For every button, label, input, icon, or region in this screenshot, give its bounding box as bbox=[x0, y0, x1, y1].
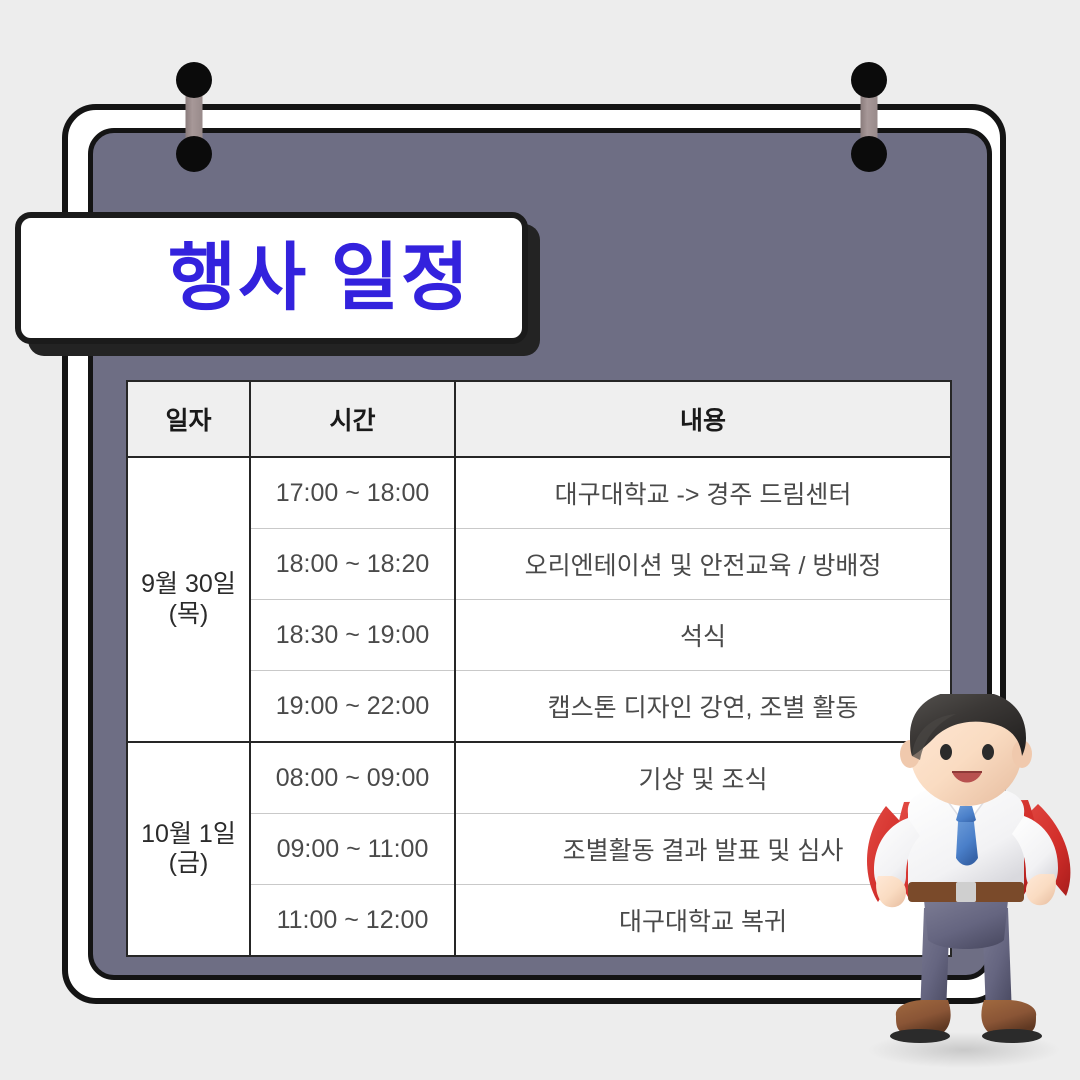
page-title: 행사 일정 bbox=[72, 241, 471, 315]
column-header-time: 시간 bbox=[250, 381, 455, 457]
superhero-businessman-icon bbox=[852, 694, 1080, 1080]
table-head: 일자 시간 내용 bbox=[127, 381, 951, 457]
clip-dot-top bbox=[851, 62, 887, 98]
time-cell: 19:00 ~ 22:00 bbox=[250, 671, 455, 743]
content-cell: 대구대학교 -> 경주 드림센터 bbox=[455, 457, 951, 529]
content-cell: 석식 bbox=[455, 600, 951, 671]
clip-dot-bottom bbox=[851, 136, 887, 172]
column-header-content: 내용 bbox=[455, 381, 951, 457]
table-row: 10월 1일 (금) 08:00 ~ 09:00 기상 및 조식 bbox=[127, 742, 951, 814]
table-row: 19:00 ~ 22:00 캡스톤 디자인 강연, 조별 활동 bbox=[127, 671, 951, 743]
binder-clip-right-icon bbox=[847, 62, 891, 172]
clip-dot-top bbox=[176, 62, 212, 98]
time-cell: 11:00 ~ 12:00 bbox=[250, 885, 455, 957]
content-cell: 오리엔테이션 및 안전교육 / 방배정 bbox=[455, 529, 951, 600]
date-cell-group-0: 9월 30일 (목) bbox=[127, 457, 250, 742]
time-cell: 18:30 ~ 19:00 bbox=[250, 600, 455, 671]
poster-canvas: 행사 일정 일자 시간 내용 9월 30일 (목) 17:00 ~ 18:00 … bbox=[0, 0, 1080, 1080]
time-cell: 17:00 ~ 18:00 bbox=[250, 457, 455, 529]
binder-clip-left-icon bbox=[172, 62, 216, 172]
date-cell-group-1: 10월 1일 (금) bbox=[127, 742, 250, 956]
title-banner: 행사 일정 bbox=[15, 212, 528, 344]
schedule-table: 일자 시간 내용 9월 30일 (목) 17:00 ~ 18:00 대구대학교 … bbox=[126, 380, 952, 957]
time-cell: 09:00 ~ 11:00 bbox=[250, 814, 455, 885]
table-row: 18:30 ~ 19:00 석식 bbox=[127, 600, 951, 671]
table-row: 11:00 ~ 12:00 대구대학교 복귀 bbox=[127, 885, 951, 957]
table-row: 9월 30일 (목) 17:00 ~ 18:00 대구대학교 -> 경주 드림센… bbox=[127, 457, 951, 529]
table-row: 09:00 ~ 11:00 조별활동 결과 발표 및 심사 bbox=[127, 814, 951, 885]
table-body: 9월 30일 (목) 17:00 ~ 18:00 대구대학교 -> 경주 드림센… bbox=[127, 457, 951, 956]
table-row: 18:00 ~ 18:20 오리엔테이션 및 안전교육 / 방배정 bbox=[127, 529, 951, 600]
table-header-row: 일자 시간 내용 bbox=[127, 381, 951, 457]
column-header-date: 일자 bbox=[127, 381, 250, 457]
time-cell: 18:00 ~ 18:20 bbox=[250, 529, 455, 600]
clip-dot-bottom bbox=[176, 136, 212, 172]
time-cell: 08:00 ~ 09:00 bbox=[250, 742, 455, 814]
